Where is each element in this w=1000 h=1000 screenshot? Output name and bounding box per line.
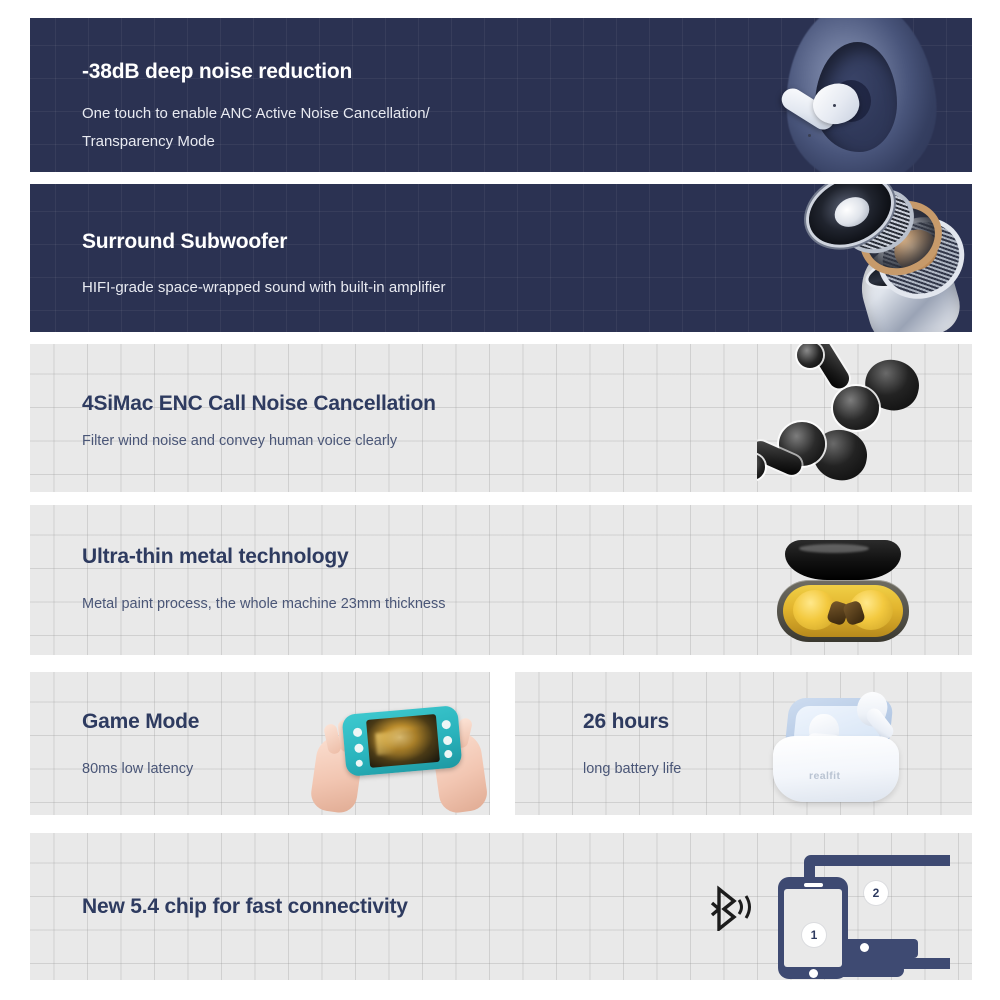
handheld-console	[342, 705, 463, 777]
panel-subtitle: 80ms low latency	[82, 756, 342, 782]
panel-copy: Surround Subwoofer HIFI-grade space-wrap…	[82, 230, 722, 302]
panel-title: Surround Subwoofer	[82, 230, 722, 254]
panel-title: Ultra-thin metal technology	[82, 545, 722, 569]
panel-enc-call-noise-cancellation: 4SiMac ENC Call Noise Cancellation Filte…	[30, 344, 972, 492]
panel-title: Game Mode	[82, 710, 342, 734]
console-screen	[366, 714, 440, 768]
panel-subtitle: long battery life	[583, 756, 833, 782]
panel-subtitle: HIFI-grade space-wrapped sound with buil…	[82, 274, 722, 302]
panel-copy: 26 hours long battery life	[583, 710, 833, 782]
device-badge-1: 1	[802, 923, 826, 947]
panel-subtitle: Filter wind noise and convey human voice…	[82, 428, 722, 454]
open-charging-case-illustration	[773, 540, 913, 645]
panel-title: 26 hours	[583, 710, 833, 734]
panel-copy: Game Mode 80ms low latency	[82, 710, 342, 782]
device-badge-2: 2	[864, 881, 888, 905]
panel-subtitle: One touch to enable ANC Active Noise Can…	[82, 100, 722, 156]
bluetooth-devices-illustration: 1 2	[700, 845, 950, 980]
panel-copy: -38dB deep noise reduction One touch to …	[82, 60, 722, 156]
panel-noise-reduction: -38dB deep noise reduction One touch to …	[30, 18, 972, 172]
paired-devices-group: 1 2	[768, 851, 946, 975]
infographic-sheet: -38dB deep noise reduction One touch to …	[0, 0, 1000, 1000]
bluetooth-icon	[706, 883, 752, 931]
panel-copy: New 5.4 chip for fast connectivity	[82, 895, 642, 919]
panel-subtitle: Metal paint process, the whole machine 2…	[82, 591, 722, 617]
ear-with-earbud-illustration	[757, 18, 972, 172]
panel-title: -38dB deep noise reduction	[82, 60, 722, 84]
panel-copy: 4SiMac ENC Call Noise Cancellation Filte…	[82, 392, 722, 454]
black-earbuds-illustration	[757, 344, 972, 492]
panel-title: 4SiMac ENC Call Noise Cancellation	[82, 392, 722, 416]
panel-title: New 5.4 chip for fast connectivity	[82, 895, 642, 919]
panel-surround-subwoofer: Surround Subwoofer HIFI-grade space-wrap…	[30, 184, 972, 332]
exploded-speaker-driver-illustration	[797, 184, 972, 332]
panel-copy: Ultra-thin metal technology Metal paint …	[82, 545, 722, 617]
case-lid	[785, 540, 901, 580]
